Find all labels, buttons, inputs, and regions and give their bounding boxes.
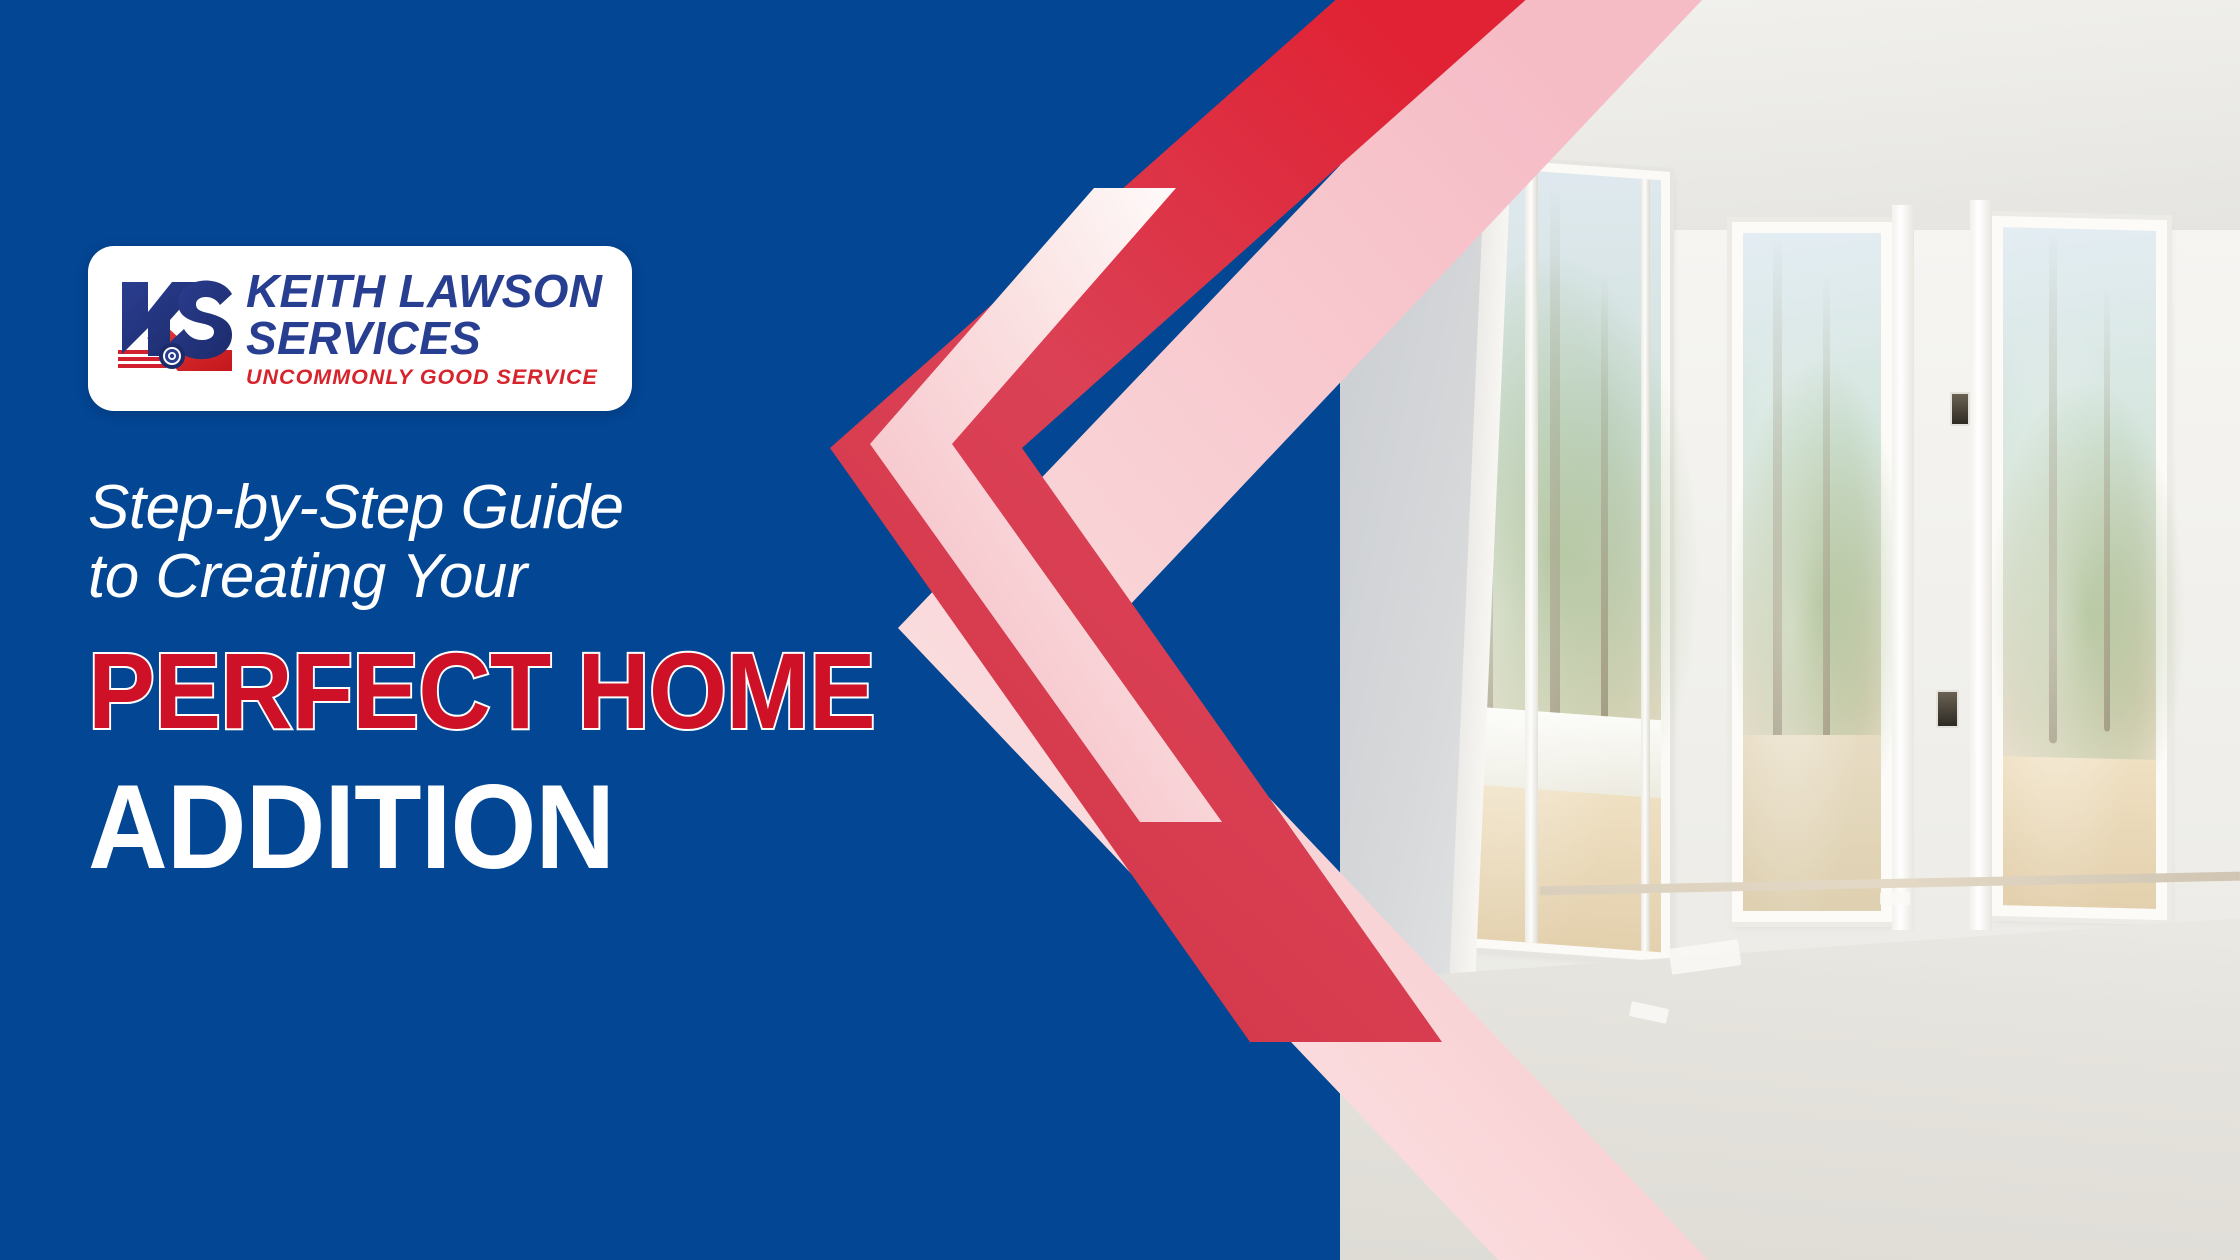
electrical-outlet: [1950, 392, 1970, 426]
bay-window-left: [1732, 222, 1892, 922]
window-jamb: [1892, 205, 1914, 930]
tree-trunk: [1773, 233, 1782, 762]
headline-kicker-line1: Step-by-Step Guide: [88, 473, 848, 542]
tree-trunk: [2104, 284, 2110, 732]
photo-scene: [1340, 0, 2240, 1260]
logo-wordmark: KEITH LAWSON SERVICES UNCOMMONLY GOOD SE…: [246, 268, 602, 389]
floor-debris: [1880, 892, 1910, 905]
company-logo[interactable]: KEITH LAWSON SERVICES UNCOMMONLY GOOD SE…: [88, 246, 632, 411]
tree-trunk: [1601, 268, 1608, 747]
electrical-outlet: [1936, 690, 1959, 728]
room-addition-photo: [1340, 0, 2240, 1260]
logo-company-line1: KEITH LAWSON: [246, 268, 602, 314]
headline-kicker-line2: to Creating Your: [88, 542, 848, 611]
door-mullion: [1641, 179, 1650, 952]
foliage: [1988, 376, 2187, 774]
bay-window-right: [1992, 216, 2167, 920]
tree-trunk: [1823, 274, 1830, 749]
headline-subject: ADDITION: [88, 767, 1008, 887]
logo-tagline: UNCOMMONLY GOOD SERVICE: [246, 367, 602, 389]
door-mullion: [1525, 170, 1538, 943]
banner-content: KEITH LAWSON SERVICES UNCOMMONLY GOOD SE…: [88, 246, 1088, 887]
foliage: [1729, 355, 1908, 775]
headline-kicker: Step-by-Step Guide to Creating Your: [88, 473, 848, 612]
logo-company-line2: SERVICES: [246, 315, 602, 361]
tree-trunk: [2049, 228, 2057, 743]
promo-banner: KEITH LAWSON SERVICES UNCOMMONLY GOOD SE…: [0, 0, 2240, 1260]
dirt-ground: [2003, 756, 2156, 909]
ks-monogram-icon: [114, 276, 238, 380]
window-jamb: [1970, 200, 1992, 930]
tree-trunk: [1550, 188, 1560, 745]
headline-emphasis: PERFECT HOME: [88, 637, 1018, 745]
